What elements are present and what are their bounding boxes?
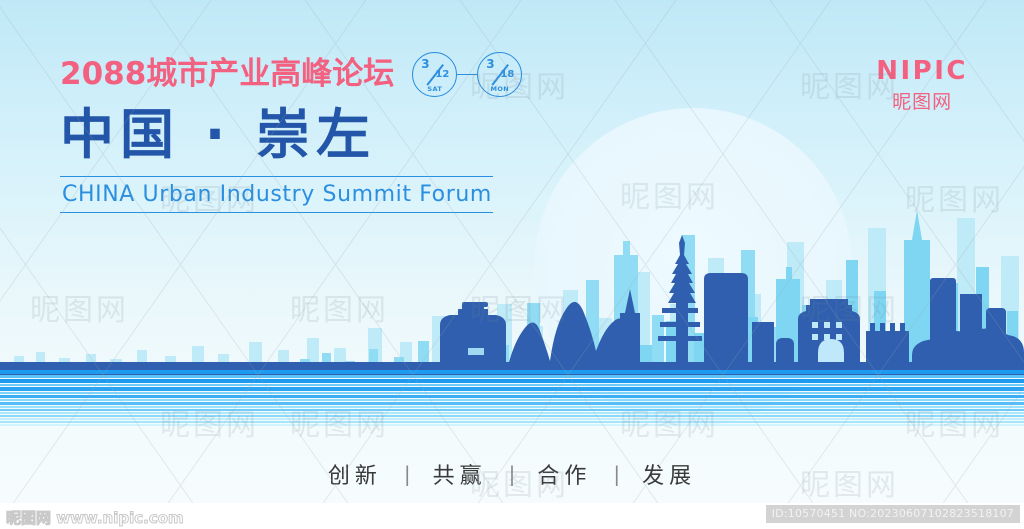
brand-name-english: NIPIC — [876, 58, 968, 84]
date-range: 3 12 SAT 3 18 MON — [412, 52, 522, 97]
date-weekday: SAT — [413, 85, 456, 93]
date-day: 18 — [500, 69, 514, 80]
brand-name-chinese: 昵图网 — [876, 93, 968, 112]
date-weekday: MON — [478, 85, 521, 93]
water-stripes — [0, 370, 1024, 406]
artwork-area: 2088城市产业高峰论坛 3 12 SAT 3 18 MON — [0, 0, 1024, 503]
headline-block: 2088城市产业高峰论坛 3 12 SAT 3 18 MON — [60, 52, 680, 213]
slogan-item-1: 创新 — [306, 458, 404, 490]
slogan-separator: | — [509, 462, 516, 486]
date-month: 3 — [421, 57, 429, 71]
title-divider-bottom — [60, 212, 493, 214]
date-month: 3 — [486, 57, 494, 71]
date-day: 12 — [435, 69, 449, 80]
page-title-main: 中国 · 崇左 — [60, 107, 680, 164]
slogan-separator: | — [613, 462, 620, 486]
slogan-row: 创新 | 共赢 | 合作 | 发展 — [0, 458, 1024, 490]
date-connector — [457, 74, 477, 76]
date-badge-start: 3 12 SAT — [412, 52, 457, 97]
slogan-item-4: 发展 — [620, 458, 718, 490]
slogan-item-2: 共赢 — [411, 458, 509, 490]
poster-canvas: 2088城市产业高峰论坛 3 12 SAT 3 18 MON — [0, 0, 1024, 529]
slogan-item-3: 合作 — [515, 458, 613, 490]
page-subtitle-english: CHINA Urban Industry Summit Forum — [60, 177, 680, 212]
headline-row: 2088城市产业高峰论坛 3 12 SAT 3 18 MON — [60, 52, 680, 97]
date-badge-end: 3 18 MON — [477, 52, 522, 97]
footer-id-text: ID:10570451 NO:20230607102823518107 — [766, 505, 1020, 523]
brand-logo: NIPIC 昵图网 — [876, 58, 968, 112]
foreground-skyline — [0, 230, 1024, 375]
slogan-separator: | — [404, 462, 411, 486]
footer-bar: 昵图网 www.nipic.com ID:10570451 NO:2023060… — [0, 503, 1024, 529]
footer-watermark: 昵图网 www.nipic.com — [6, 507, 184, 528]
page-title-chinese: 2088城市产业高峰论坛 — [60, 59, 394, 90]
